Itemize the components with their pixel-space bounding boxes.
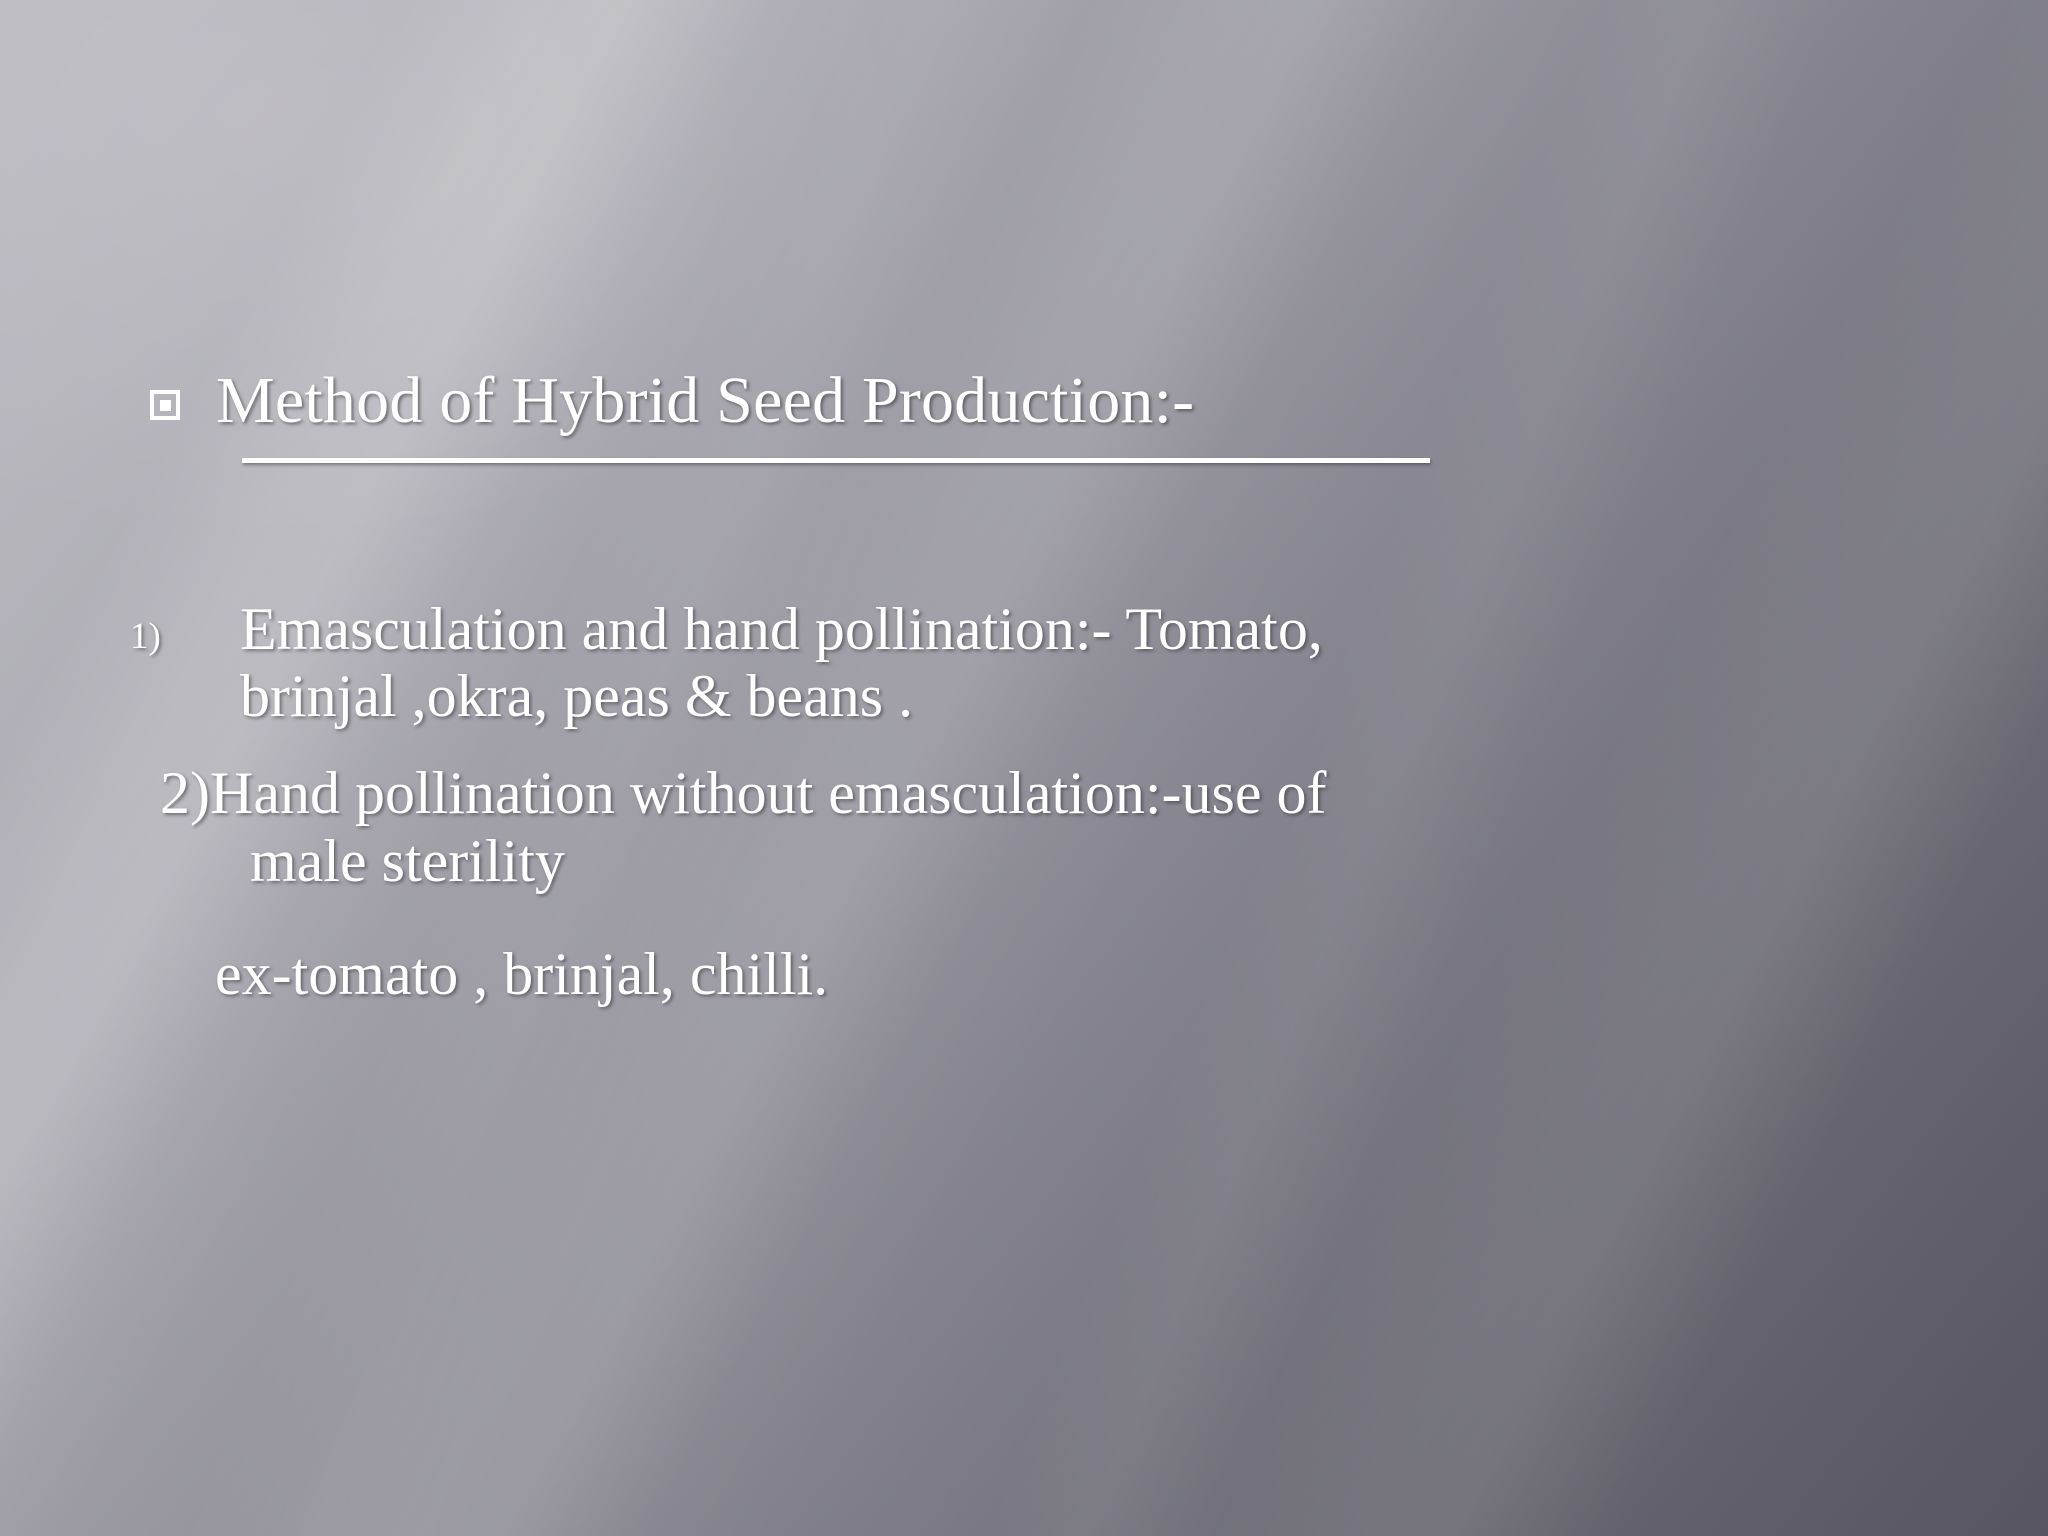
slide-content: Method of Hybrid Seed Production:- 1) Em… [0, 0, 2048, 1536]
slide-title-row: Method of Hybrid Seed Production:- [150, 368, 1194, 434]
title-underline-rule [242, 458, 1430, 463]
square-bullet-icon [150, 390, 180, 420]
list-item-line-1-text: Hand pollination without emasculation:-u… [210, 760, 1326, 826]
list-item-marker: 2) [160, 760, 210, 826]
list-item-line-2: male sterility [250, 828, 1848, 895]
slide-body: 1) Emasculation and hand pollination:- T… [0, 596, 2048, 1008]
list-item-line-1: 2)Hand pollination without emasculation:… [160, 760, 1326, 826]
example-line: ex-tomato , brinjal, chilli. [215, 941, 2048, 1008]
list-item-marker: 1) [130, 618, 161, 655]
slide-title: Method of Hybrid Seed Production:- [216, 368, 1194, 434]
list-item-line-1: Emasculation and hand pollination:- Toma… [240, 596, 1323, 662]
list-item-line-2: brinjal ,okra, peas & beans . [240, 663, 1748, 730]
list-item: 1) Emasculation and hand pollination:- T… [240, 596, 1748, 730]
presentation-slide: Method of Hybrid Seed Production:- 1) Em… [0, 0, 2048, 1536]
list-item: 2)Hand pollination without emasculation:… [160, 760, 1848, 894]
